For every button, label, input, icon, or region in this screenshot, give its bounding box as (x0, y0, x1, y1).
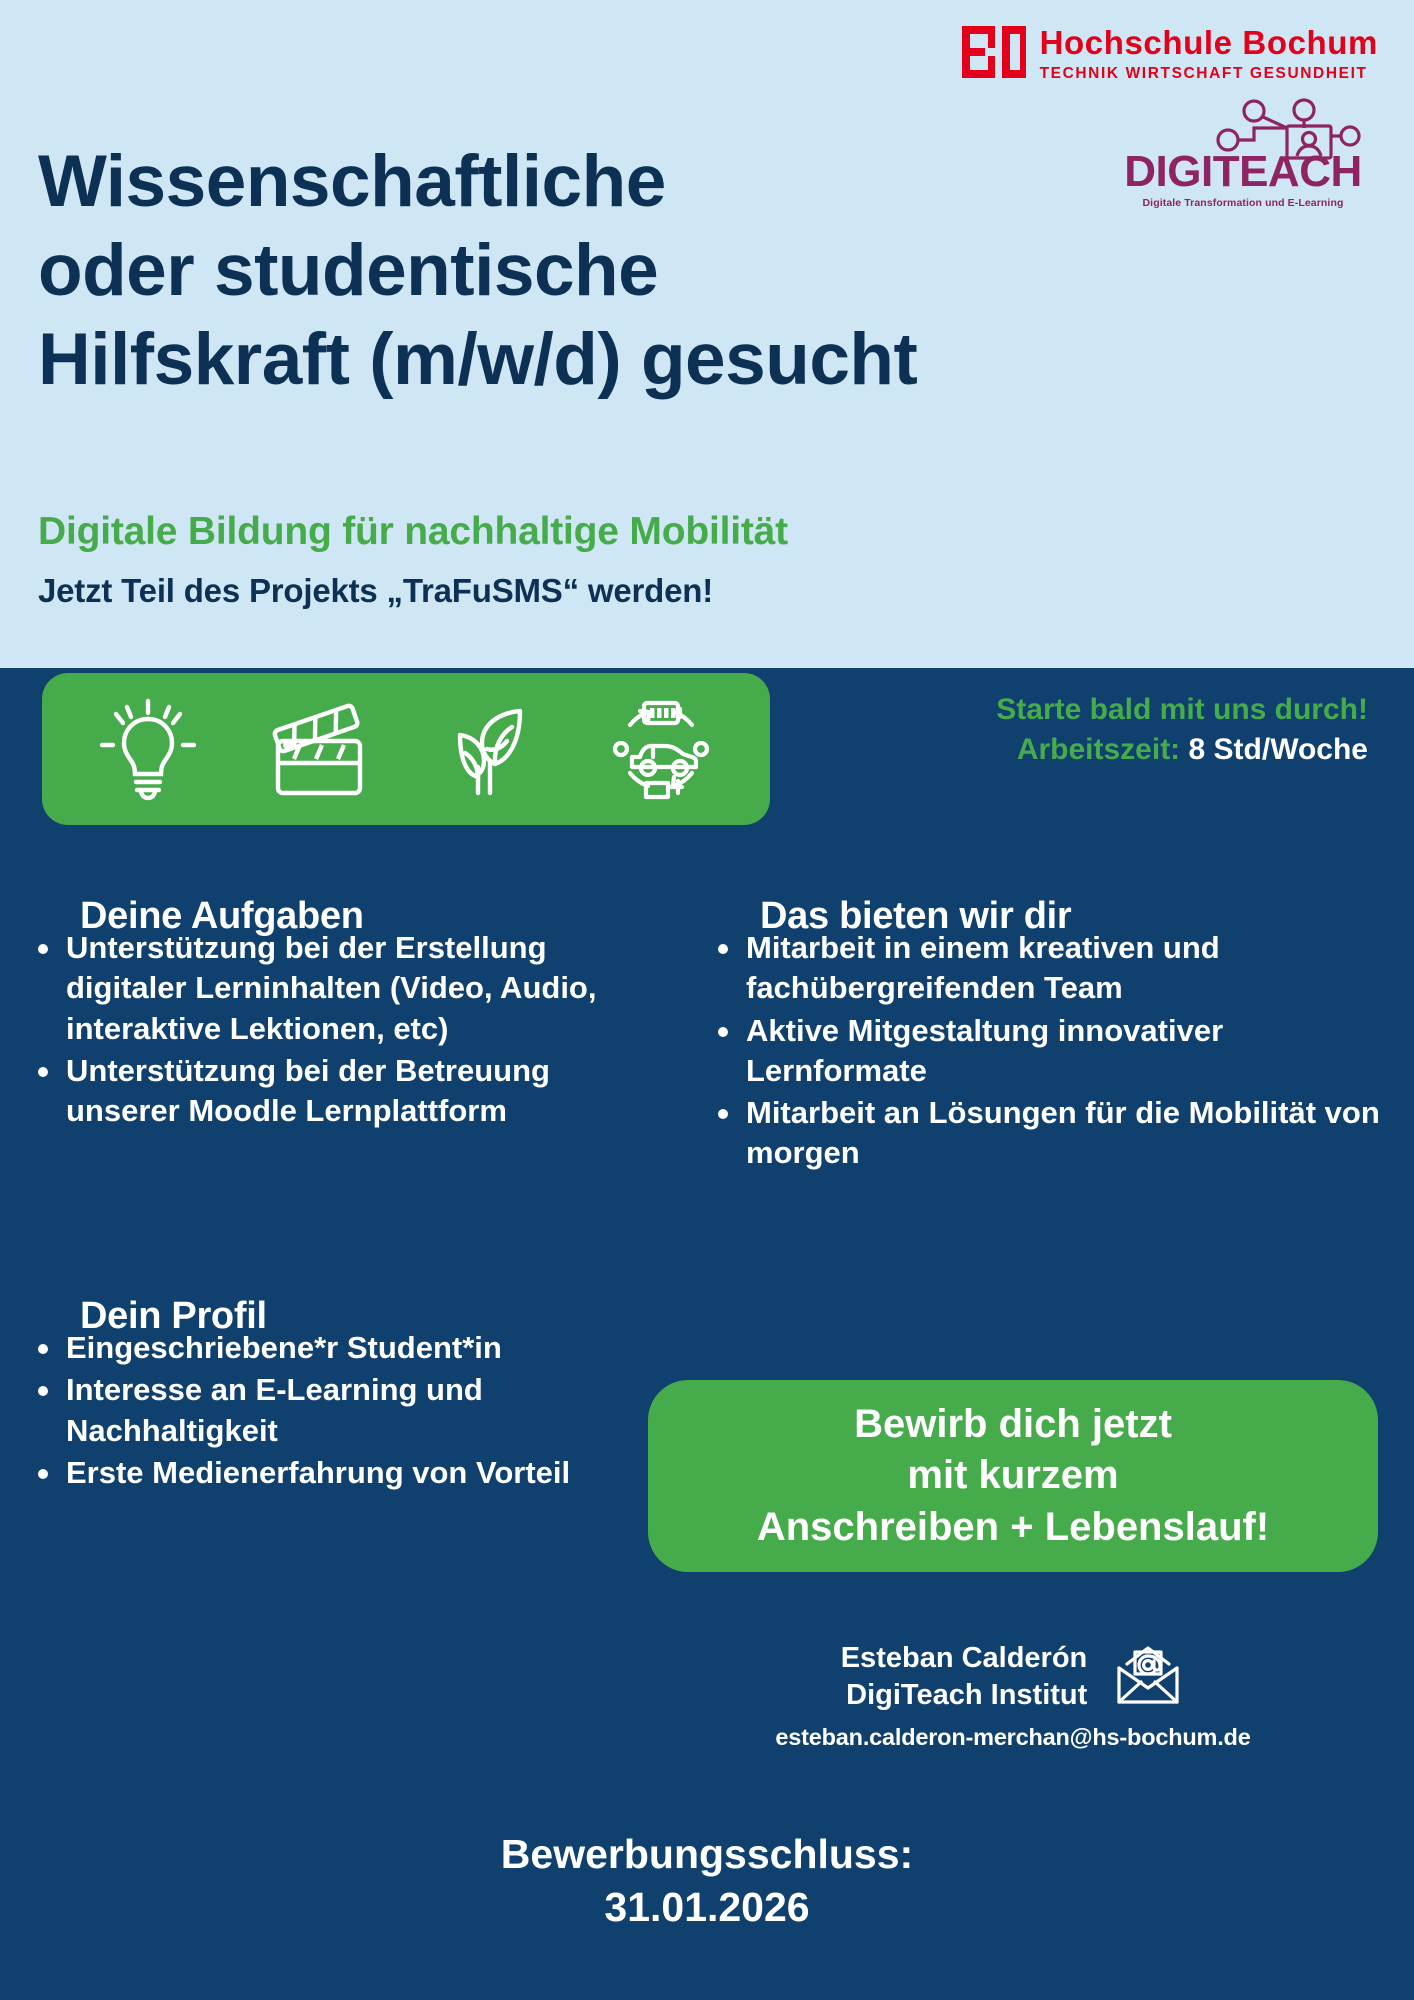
list-item: Mitarbeit in einem kreativen und fachübe… (710, 928, 1400, 1009)
digiteach-logo: DIGITEACH Digitale Transformation und E-… (1118, 104, 1368, 209)
university-tagline: TECHNIK WIRTSCHAFT GESUNDHEIT (1040, 65, 1378, 83)
cta-line-3: Anschreiben + Lebenslauf! (757, 1502, 1269, 1553)
list-item: Eingeschriebene*r Student*in (30, 1328, 630, 1368)
leaves-icon (438, 697, 542, 801)
tasks-list: Unterstützung bei der Erstellung digital… (30, 928, 630, 1133)
university-logo: Hochschule Bochum TECHNIK WIRTSCHAFT GES… (962, 26, 1378, 83)
digiteach-wordmark: DIGITEACH (1118, 150, 1368, 194)
list-item: Unterstützung bei der Betreuung unserer … (30, 1051, 630, 1132)
work-hours-value: 8 Std/Woche (1189, 733, 1368, 766)
contact-name: Esteban Calderón (841, 1640, 1088, 1677)
headline-line-3: Hilfskraft (m/w/d) gesucht (38, 315, 998, 404)
subtitle-navy: Jetzt Teil des Projekts „TraFuSMS“ werde… (38, 572, 713, 610)
work-info: Starte bald mit uns durch! Arbeitszeit: … (996, 690, 1368, 769)
digiteach-wordmark-teach: TEACH (1213, 147, 1362, 196)
poster-header-section: Hochschule Bochum TECHNIK WIRTSCHAFT GES… (0, 0, 1414, 668)
apply-cta-box[interactable]: Bewirb dich jetzt mit kurzem Anschreiben… (648, 1380, 1378, 1572)
list-item: Interesse an E-Learning und Nachhaltigke… (30, 1370, 630, 1451)
bo-logo-mark-icon (962, 26, 1026, 83)
contact-block: Esteban Calderón DigiTeach Institut (648, 1640, 1378, 1751)
application-deadline: Bewerbungsschluss: 31.01.2026 (0, 1828, 1414, 1935)
e-mobility-icon (606, 697, 716, 801)
university-name: Hochschule Bochum (1040, 26, 1378, 59)
email-envelope-icon (1111, 1642, 1185, 1713)
deadline-date: 31.01.2026 (0, 1881, 1414, 1934)
profile-list: Eingeschriebene*r Student*in Interesse a… (30, 1328, 630, 1495)
list-item: Mitarbeit an Lösungen für die Mobilität … (710, 1093, 1400, 1174)
headline-line-1: Wissenschaftliche (38, 137, 998, 226)
work-call-to-action: Starte bald mit uns durch! (996, 690, 1368, 730)
poster-body-section: Starte bald mit uns durch! Arbeitszeit: … (0, 668, 1414, 2000)
offer-list: Mitarbeit in einem kreativen und fachübe… (710, 928, 1400, 1176)
contact-institute: DigiTeach Institut (841, 1677, 1088, 1714)
cta-line-2: mit kurzem (907, 1450, 1118, 1501)
cta-line-1: Bewirb dich jetzt (854, 1399, 1172, 1450)
digiteach-wordmark-digi: DIGI (1124, 147, 1212, 196)
list-item: Erste Medienerfahrung von Vorteil (30, 1453, 630, 1493)
headline-line-2: oder studentische (38, 226, 998, 315)
contact-person: Esteban Calderón DigiTeach Institut (841, 1640, 1088, 1714)
clapperboard-icon (264, 697, 374, 801)
digiteach-subtitle: Digitale Transformation und E-Learning (1118, 197, 1368, 209)
lightbulb-icon (96, 697, 200, 801)
work-hours-label: Arbeitszeit: (1017, 733, 1180, 766)
list-item: Aktive Mitgestaltung innovativer Lernfor… (710, 1011, 1400, 1092)
theme-icon-strip (42, 673, 770, 825)
deadline-label: Bewerbungsschluss: (0, 1828, 1414, 1881)
page-title: Wissenschaftliche oder studentische Hilf… (38, 137, 998, 404)
subtitle-green: Digitale Bildung für nachhaltige Mobilit… (38, 510, 788, 554)
list-item: Unterstützung bei der Erstellung digital… (30, 928, 630, 1049)
job-poster: Hochschule Bochum TECHNIK WIRTSCHAFT GES… (0, 0, 1414, 2000)
contact-email[interactable]: esteban.calderon-merchan@hs-bochum.de (648, 1724, 1378, 1751)
work-hours: Arbeitszeit: 8 Std/Woche (996, 730, 1368, 770)
